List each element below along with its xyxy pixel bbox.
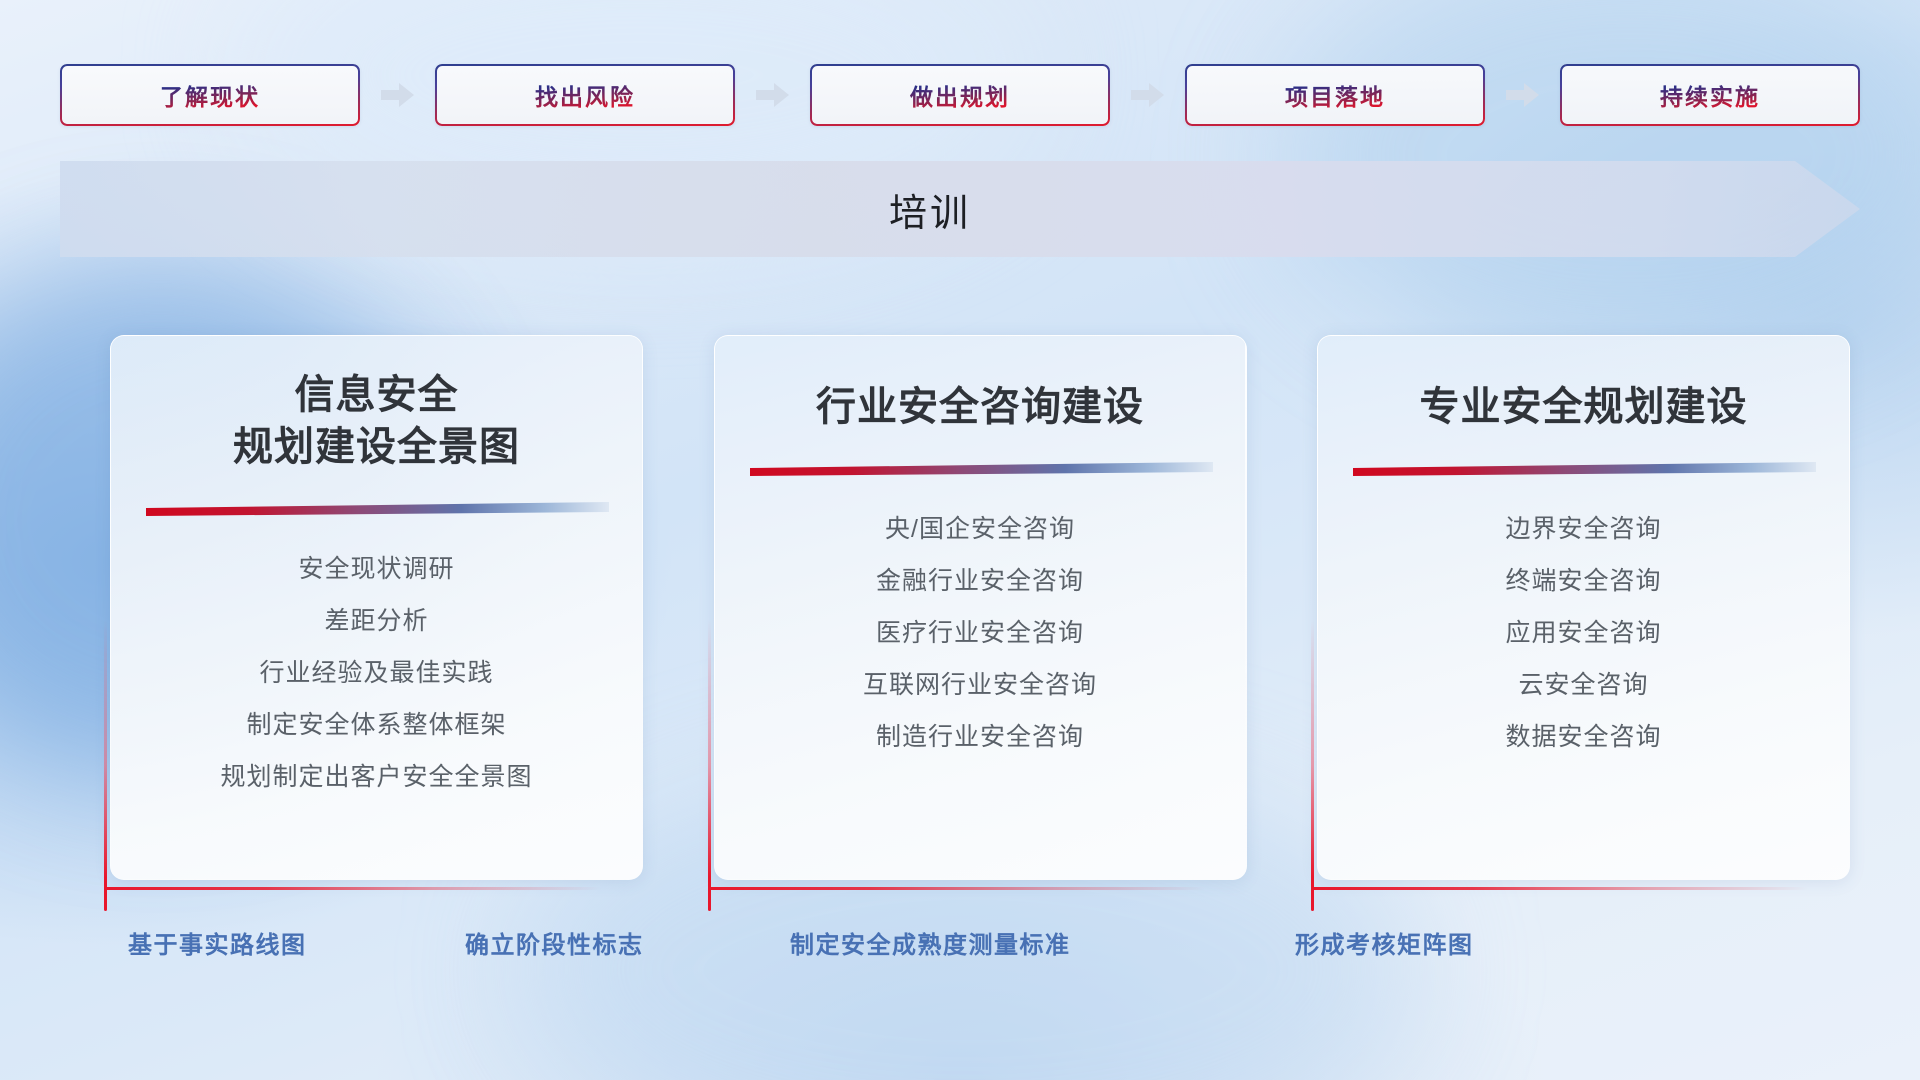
list-item: 金融行业安全咨询 bbox=[876, 555, 1084, 607]
list-item: 差距分析 bbox=[324, 595, 428, 647]
step-box-4[interactable]: 项目落地 bbox=[1185, 64, 1485, 126]
card-accent-underline bbox=[104, 887, 644, 890]
list-item: 央/国企安全咨询 bbox=[885, 503, 1075, 555]
banner-title: 培训 bbox=[60, 161, 1860, 257]
list-item: 规划制定出客户安全全景图 bbox=[220, 751, 532, 803]
step-label: 项目落地 bbox=[1285, 78, 1385, 112]
card-item-list: 边界安全咨询 终端安全咨询 应用安全咨询 云安全咨询 数据安全咨询 bbox=[1351, 503, 1816, 763]
card-accent-line bbox=[1311, 351, 1314, 911]
card-accent-underline bbox=[1311, 887, 1851, 890]
list-item: 应用安全咨询 bbox=[1505, 607, 1661, 659]
card-accent-underline bbox=[708, 887, 1248, 890]
step-box-5[interactable]: 持续实施 bbox=[1560, 64, 1860, 126]
caption-milestones: 确立阶段性标志 bbox=[465, 925, 644, 960]
card-accent-line bbox=[104, 351, 107, 911]
card-item-list: 安全现状调研 差距分析 行业经验及最佳实践 制定安全体系整体框架 规划制定出客户… bbox=[144, 543, 609, 803]
caption-roadmap: 基于事实路线图 bbox=[128, 925, 307, 960]
caption-maturity-model: 制定安全成熟度测量标准 bbox=[790, 925, 1071, 960]
card-divider bbox=[144, 499, 609, 525]
card-industry-security-consulting[interactable]: 行业安全咨询建设 bbox=[714, 335, 1247, 880]
list-item: 终端安全咨询 bbox=[1505, 555, 1661, 607]
step-label: 做出规划 bbox=[910, 78, 1010, 112]
chevron-right-arrow-icon bbox=[1131, 82, 1165, 108]
list-item: 互联网行业安全咨询 bbox=[863, 659, 1097, 711]
list-item: 制造行业安全咨询 bbox=[876, 711, 1084, 763]
chevron-right-arrow-icon bbox=[756, 82, 790, 108]
list-item: 医疗行业安全咨询 bbox=[876, 607, 1084, 659]
step-box-3[interactable]: 做出规划 bbox=[810, 64, 1110, 126]
caption-row: 基于事实路线图 确立阶段性标志 制定安全成熟度测量标准 形成考核矩阵图 bbox=[0, 925, 1920, 969]
step-label: 了解现状 bbox=[160, 78, 260, 112]
training-banner: 培训 bbox=[60, 161, 1860, 257]
list-item: 行业经验及最佳实践 bbox=[259, 647, 493, 699]
card-divider bbox=[748, 459, 1213, 485]
card-title: 专业安全规划建设 bbox=[1351, 381, 1816, 433]
card-row: 信息安全 规划建设全景图 bbox=[110, 335, 1850, 880]
list-item: 数据安全咨询 bbox=[1505, 711, 1661, 763]
process-step-row: 了解现状 找出风险 做出规划 项目落地 持续实施 bbox=[60, 64, 1860, 126]
caption-kpi-matrix: 形成考核矩阵图 bbox=[1295, 925, 1474, 960]
chevron-right-arrow-icon bbox=[381, 82, 415, 108]
card-title: 行业安全咨询建设 bbox=[748, 381, 1213, 433]
list-item: 制定安全体系整体框架 bbox=[246, 699, 506, 751]
card-divider bbox=[1351, 459, 1816, 485]
card-item-list: 央/国企安全咨询 金融行业安全咨询 医疗行业安全咨询 互联网行业安全咨询 制造行… bbox=[748, 503, 1213, 763]
step-box-1[interactable]: 了解现状 bbox=[60, 64, 360, 126]
list-item: 边界安全咨询 bbox=[1505, 503, 1661, 555]
card-accent-line bbox=[708, 351, 711, 911]
step-box-2[interactable]: 找出风险 bbox=[435, 64, 735, 126]
list-item: 云安全咨询 bbox=[1518, 659, 1648, 711]
chevron-right-arrow-icon bbox=[1506, 82, 1540, 108]
card-info-security-panorama[interactable]: 信息安全 规划建设全景图 bbox=[110, 335, 643, 880]
card-title: 信息安全 规划建设全景图 bbox=[144, 369, 609, 473]
step-label: 找出风险 bbox=[535, 78, 635, 112]
slide-canvas: 了解现状 找出风险 做出规划 项目落地 持续实施 bbox=[0, 0, 1920, 1080]
step-label: 持续实施 bbox=[1660, 78, 1760, 112]
list-item: 安全现状调研 bbox=[298, 543, 454, 595]
card-professional-security-planning[interactable]: 专业安全规划建设 bbox=[1317, 335, 1850, 880]
